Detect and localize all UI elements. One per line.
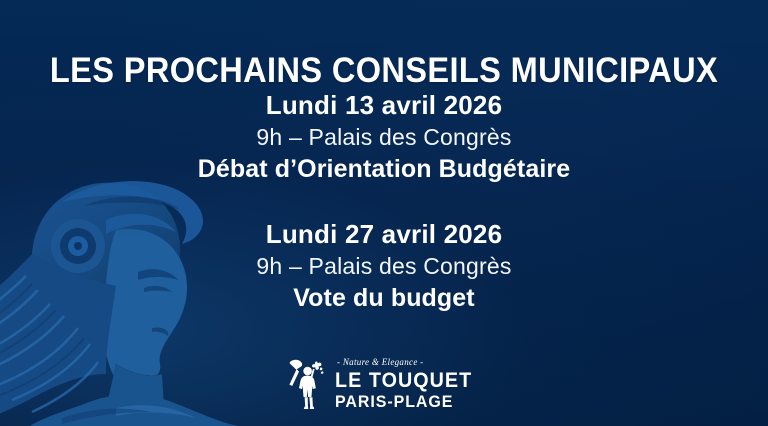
logo-tagline: - Nature & Elegance -	[337, 358, 481, 367]
event-time-place: 9h – Palais des Congrès	[0, 122, 768, 153]
logo-wordmark: - Nature & Elegance - LE TOUQUET PARIS-P…	[335, 358, 481, 410]
event-time-place: 9h – Palais des Congrès	[0, 251, 768, 282]
events-list: Lundi 13 avril 2026 9h – Palais des Cong…	[0, 88, 768, 316]
poster-content: LES PROCHAINS CONSEILS MUNICIPAUX Lundi …	[0, 0, 768, 426]
logo-name-line1: LE TOUQUET	[335, 370, 472, 391]
logo-name-line2: PARIS-PLAGE	[335, 393, 472, 410]
le-touquet-logo: - Nature & Elegance - LE TOUQUET PARIS-P…	[287, 358, 481, 410]
event-item: Lundi 13 avril 2026 9h – Palais des Cong…	[0, 88, 768, 187]
touquet-figure-icon	[287, 358, 327, 410]
event-item: Lundi 27 avril 2026 9h – Palais des Cong…	[0, 217, 768, 316]
page-title: LES PROCHAINS CONSEILS MUNICIPAUX	[27, 53, 741, 90]
event-topic: Débat d’Orientation Budgétaire	[0, 153, 768, 187]
event-topic: Vote du budget	[0, 282, 768, 316]
event-date: Lundi 27 avril 2026	[0, 217, 768, 251]
events-spacer	[0, 200, 768, 217]
poster-canvas: LES PROCHAINS CONSEILS MUNICIPAUX Lundi …	[0, 0, 768, 426]
event-date: Lundi 13 avril 2026	[0, 88, 768, 122]
